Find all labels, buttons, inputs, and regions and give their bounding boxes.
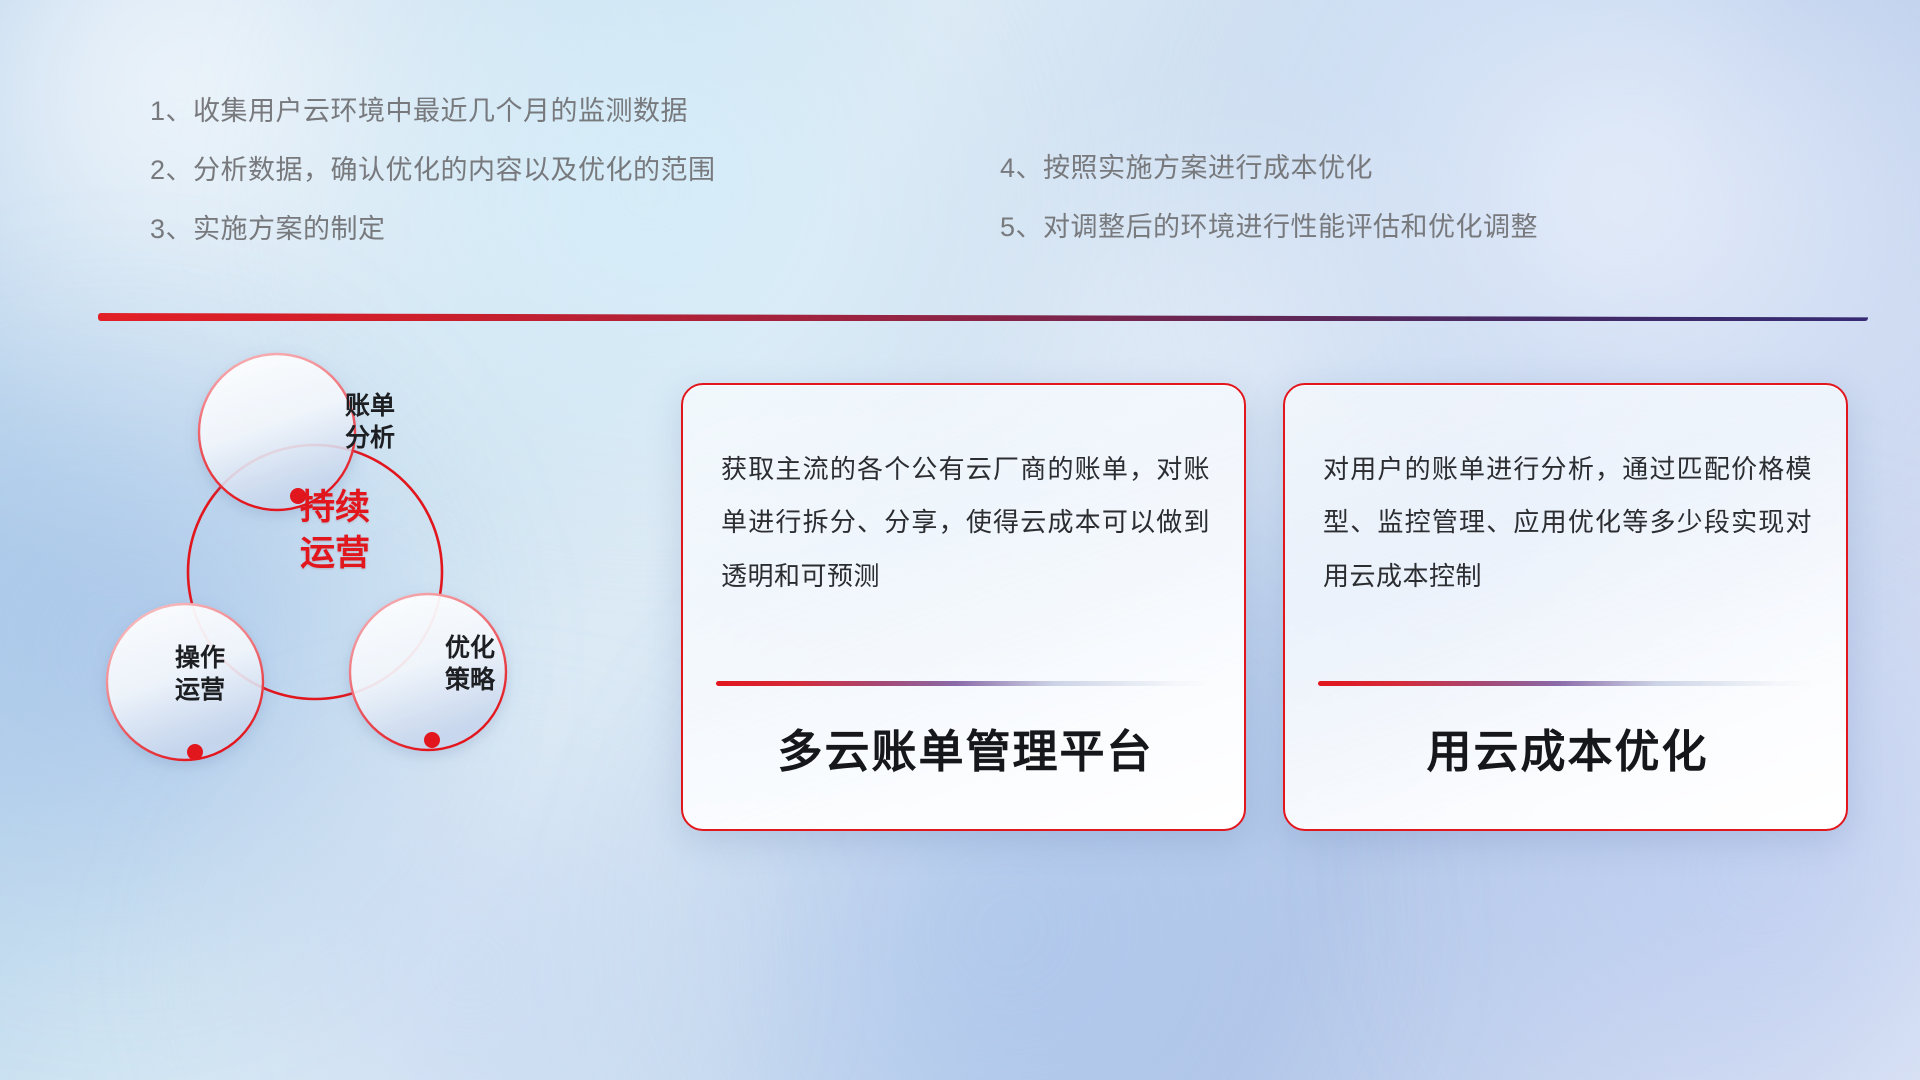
card-divider <box>1318 681 1816 686</box>
card-title: 多云账单管理平台 <box>717 715 1214 780</box>
venn-node-bottom-left <box>187 744 203 760</box>
steps-list-left: 1、收集用户云环境中最近几个月的监测数据 2、分析数据，确认优化的内容以及优化的… <box>150 98 716 275</box>
venn-label-continuous-operation: 持续 运营 <box>245 485 425 576</box>
card-divider <box>716 681 1214 686</box>
slide-canvas: 1、收集用户云环境中最近几个月的监测数据 2、分析数据，确认优化的内容以及优化的… <box>0 0 1920 1080</box>
steps-list-right: 4、按照实施方案进行成本优化 5、对调整后的环境进行性能评估和优化调整 <box>1000 155 1538 273</box>
venn-label-bill-analysis: 账单 分析 <box>290 390 450 454</box>
card-body-text: 对用户的账单进行分析，通过匹配价格模型、监控管理、应用优化等多少段实现对用云成本… <box>1323 443 1812 603</box>
venn-label-optimization-strategy: 优化 策略 <box>390 632 550 696</box>
card-body-text: 获取主流的各个公有云厂商的账单，对账单进行拆分、分享，使得云成本可以做到透明和可… <box>721 443 1210 603</box>
step-item-3: 3、实施方案的制定 <box>150 216 716 243</box>
card-multi-cloud-billing-platform[interactable]: 获取主流的各个公有云厂商的账单，对账单进行拆分、分享，使得云成本可以做到透明和可… <box>681 383 1246 831</box>
step-item-2: 2、分析数据，确认优化的内容以及优化的范围 <box>150 157 716 184</box>
step-item-5: 5、对调整后的环境进行性能评估和优化调整 <box>1000 214 1538 241</box>
card-cloud-cost-optimization[interactable]: 对用户的账单进行分析，通过匹配价格模型、监控管理、应用优化等多少段实现对用云成本… <box>1283 383 1848 831</box>
venn-node-bottom-right <box>424 732 440 748</box>
card-title: 用云成本优化 <box>1319 715 1816 780</box>
step-item-1: 1、收集用户云环境中最近几个月的监测数据 <box>150 98 716 125</box>
section-divider <box>98 313 1868 321</box>
step-item-4: 4、按照实施方案进行成本优化 <box>1000 155 1538 182</box>
venn-label-operations: 操作 运营 <box>120 642 280 706</box>
venn-diagram: 账单 分析 操作 运营 优化 策略 持续 运营 <box>90 340 540 780</box>
